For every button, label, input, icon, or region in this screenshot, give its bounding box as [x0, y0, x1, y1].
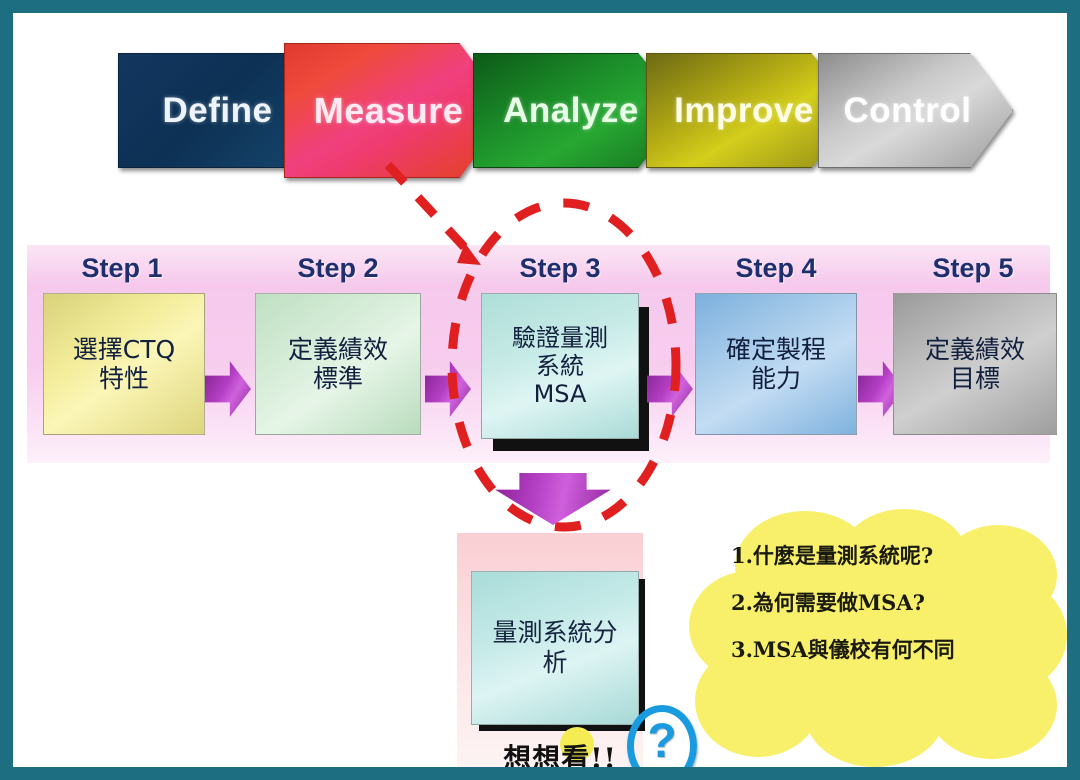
msa-box[interactable]: 量測系統分析: [471, 571, 639, 725]
step-4-box[interactable]: 確定製程能力: [695, 293, 857, 435]
step-label: Step 4: [681, 253, 871, 284]
step-3-box[interactable]: 驗證量測系統MSA: [481, 293, 639, 439]
step-1-text: 選擇CTQ特性: [73, 335, 175, 394]
step-label: Step 2: [243, 253, 433, 284]
step-1-box[interactable]: 選擇CTQ特性: [43, 293, 205, 435]
msa-box-text: 量測系統分析: [492, 618, 617, 678]
cloud-question-2: 2.為何需要做MSA?: [731, 592, 1031, 613]
dmaic-phase-control[interactable]: Control: [818, 53, 1013, 168]
step-2-box[interactable]: 定義績效標準: [255, 293, 421, 435]
dmaic-phase-bar: Define Measure Analyze Improve Control: [118, 38, 1008, 183]
cloud-question-list: 1.什麼是量測系統呢? 2.為何需要做MSA? 3.MSA與儀校有何不同: [731, 545, 1031, 686]
step-label: Step 3: [465, 253, 655, 284]
step-label: Step 5: [893, 253, 1053, 284]
question-mark-glyph: ?: [647, 718, 676, 766]
question-cloud: 1.什麼是量測系統呢? 2.為何需要做MSA? 3.MSA與儀校有何不同: [689, 509, 1067, 767]
think-label: 想想看!!: [475, 737, 645, 767]
step-3-text: 驗證量測系統MSA: [512, 324, 608, 409]
step-2-text: 定義績效標準: [288, 335, 388, 394]
step-label: Step 1: [27, 253, 217, 284]
down-arrow-icon: [495, 473, 611, 525]
step-5-text: 定義績效目標: [925, 335, 1025, 394]
step-5-box[interactable]: 定義績效目標: [893, 293, 1057, 435]
step-4-text: 確定製程能力: [726, 335, 826, 394]
cloud-question-1: 1.什麼是量測系統呢?: [731, 545, 1031, 566]
dmaic-phase-label: Control: [818, 91, 1013, 131]
slide-canvas: Define Measure Analyze Improve Control S…: [13, 13, 1067, 767]
cloud-question-3: 3.MSA與儀校有何不同: [731, 639, 1031, 660]
